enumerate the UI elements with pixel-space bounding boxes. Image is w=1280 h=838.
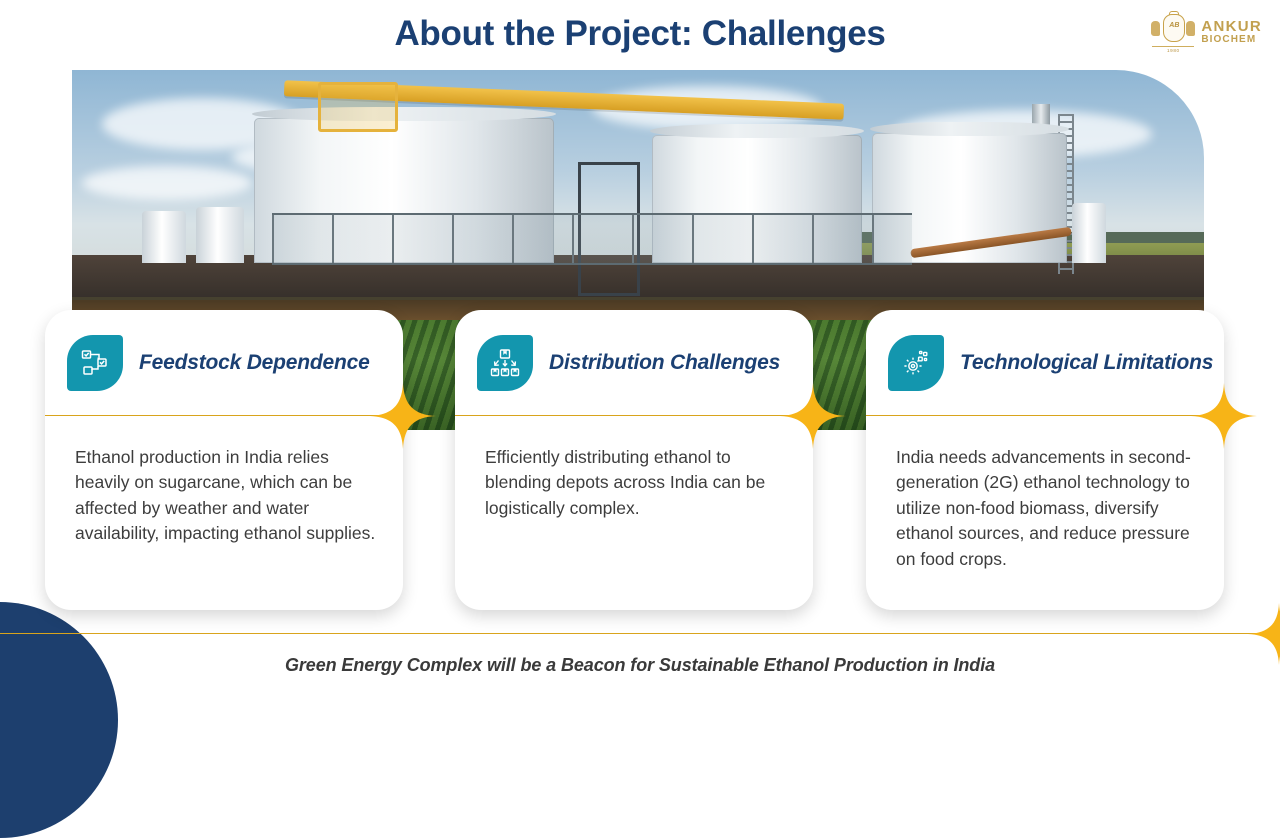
star-accent-icon (780, 383, 846, 449)
logo-name-line1: ANKUR (1201, 19, 1262, 34)
card-divider (45, 415, 403, 416)
challenge-card-technological-limitations[interactable]: Technological Limitations India needs ad… (866, 310, 1224, 610)
card-divider (866, 415, 1224, 416)
card-header: Technological Limitations (866, 310, 1224, 415)
workflow-diagram-icon (67, 335, 123, 391)
crest-icon: 1980 (1150, 12, 1196, 52)
footer-divider (0, 633, 1280, 634)
card-body-text: India needs advancements in second-gener… (896, 445, 1200, 572)
corner-decoration-navy (0, 602, 118, 838)
challenge-card-distribution-challenges[interactable]: Distribution Challenges Efficiently dist… (455, 310, 813, 610)
star-accent-icon (370, 383, 436, 449)
logo-year: 1980 (1150, 48, 1196, 53)
gear-technology-icon (888, 335, 944, 391)
card-divider (455, 415, 813, 416)
brand-logo: 1980 ANKUR BIOCHEM (1150, 12, 1262, 52)
card-header: Distribution Challenges (455, 310, 813, 415)
card-title: Technological Limitations (960, 349, 1213, 377)
logo-name-line2: BIOCHEM (1201, 35, 1262, 45)
page-title: About the Project: Challenges (0, 14, 1280, 54)
hero-plant-photo (72, 70, 1204, 311)
card-body-text: Efficiently distributing ethanol to blen… (485, 445, 789, 521)
star-accent-icon (1191, 383, 1257, 449)
challenge-card-feedstock-dependence[interactable]: Feedstock Dependence Ethanol production … (45, 310, 403, 610)
card-header: Feedstock Dependence (45, 310, 403, 415)
footer-tagline: Green Energy Complex will be a Beacon fo… (0, 655, 1280, 676)
card-title: Distribution Challenges (549, 349, 780, 377)
card-title: Feedstock Dependence (139, 349, 370, 377)
package-distribution-icon (477, 335, 533, 391)
card-body-text: Ethanol production in India relies heavi… (75, 445, 379, 547)
